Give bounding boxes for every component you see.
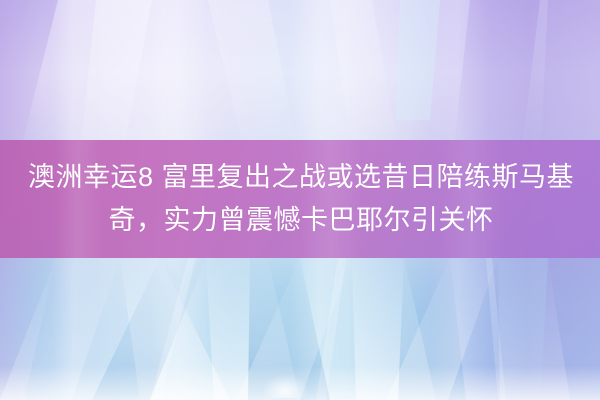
- headline-band: 澳洲幸运8 富里复出之战或选昔日陪练斯马基 奇，实力曾震憾卡巴耶尔引关怀: [0, 140, 600, 258]
- headline-line-2: 奇，实力曾震憾卡巴耶尔引关怀: [107, 199, 494, 242]
- banner-image: 澳洲幸运8 富里复出之战或选昔日陪练斯马基 奇，实力曾震憾卡巴耶尔引关怀: [0, 0, 600, 400]
- headline-line-1: 澳洲幸运8 富里复出之战或选昔日陪练斯马基: [26, 156, 574, 199]
